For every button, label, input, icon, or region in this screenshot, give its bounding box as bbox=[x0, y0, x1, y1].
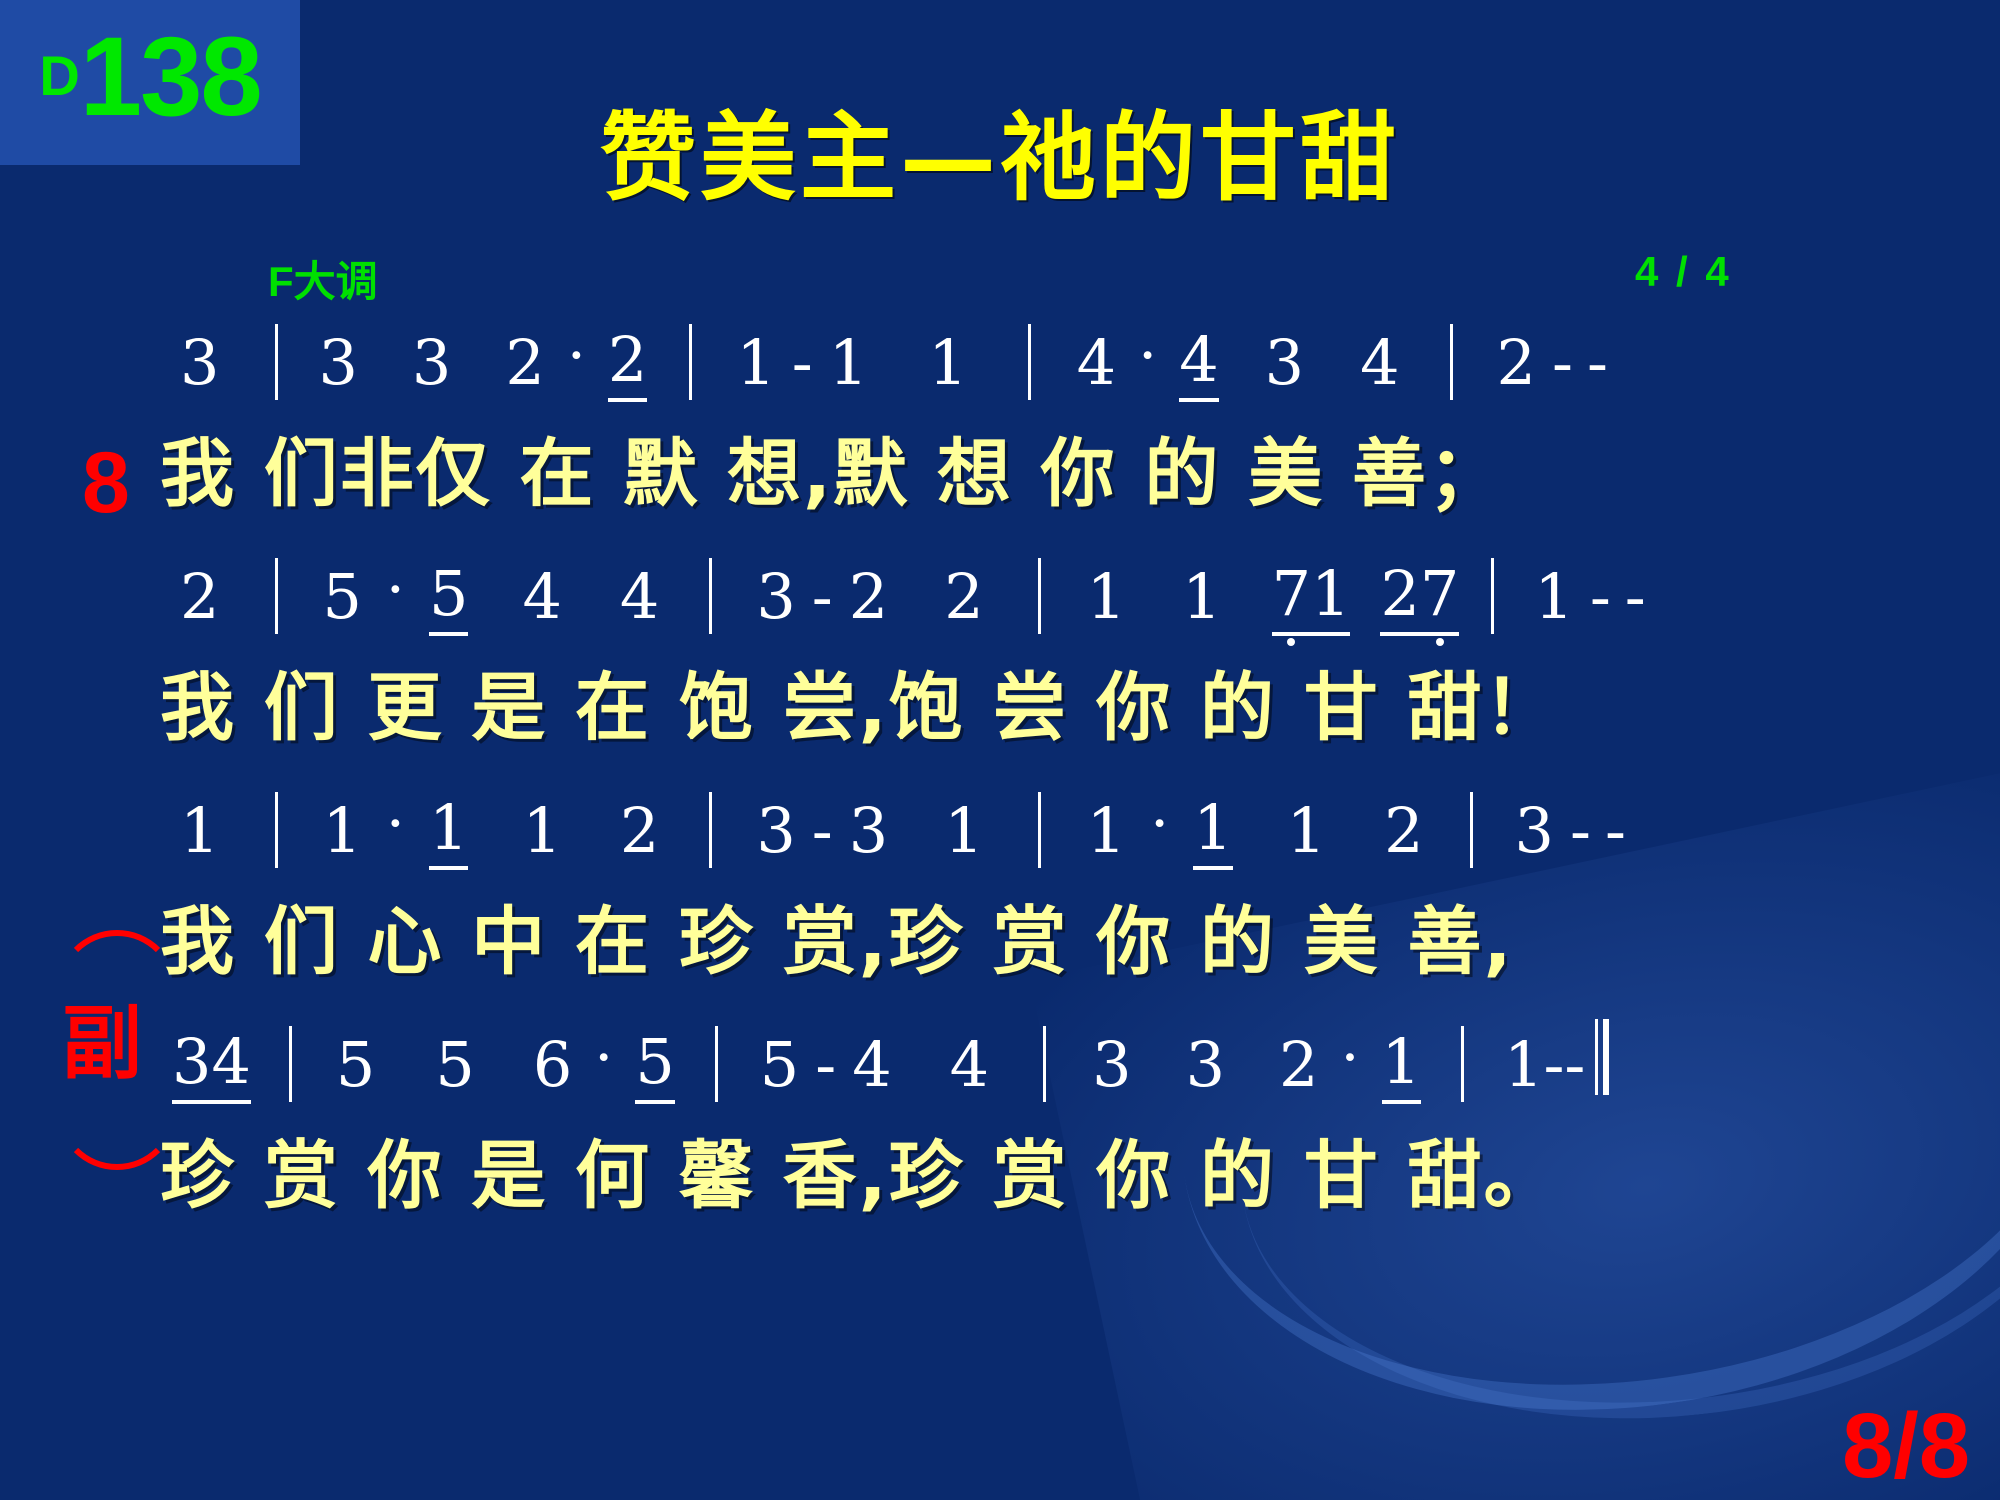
barline bbox=[689, 324, 692, 400]
notation-row: 2 5 · 5 4 4 3 - 2 2 1 1 71 27 1 - - bbox=[0, 549, 2000, 643]
beamed-group: 27 bbox=[1380, 557, 1459, 636]
lyric-row: 我 们 更 是 在 饱 尝,饱 尝 你 的 甘 甜！ bbox=[0, 643, 2000, 759]
lyric-row: 珍 赏 你 是 何 馨 香,珍 赏 你 的 甘 甜。 bbox=[0, 1111, 2000, 1227]
score-system: 3 3 3 2 · 2 1 - 1 1 4 · 4 3 4 2 - - 我 们非… bbox=[0, 315, 2000, 525]
page-number: 8/8 bbox=[1842, 1400, 1970, 1492]
barline bbox=[1491, 558, 1494, 634]
page-title: 赞美主—祂的甘甜 bbox=[0, 80, 2000, 219]
barline bbox=[1043, 1026, 1046, 1102]
lyric-row: 我 们非仅 在 默 想,默 想 你 的 美 善； bbox=[0, 409, 2000, 525]
barline bbox=[275, 324, 278, 400]
key-signature-label: F大调 bbox=[268, 248, 378, 309]
notation-row: 1 1 · 1 1 2 3 - 3 1 1 · 1 1 2 3 - - bbox=[0, 783, 2000, 877]
barline bbox=[1461, 1026, 1464, 1102]
score-system: 1 1 · 1 1 2 3 - 3 1 1 · 1 1 2 3 - - 我 们 … bbox=[0, 783, 2000, 993]
barline bbox=[709, 792, 712, 868]
beamed-group: 71 bbox=[1272, 557, 1351, 636]
barline bbox=[275, 792, 278, 868]
barline bbox=[1028, 324, 1031, 400]
barline bbox=[289, 1026, 292, 1102]
barline bbox=[1470, 792, 1473, 868]
barline bbox=[1038, 792, 1041, 868]
score-system: 34 5 5 6 · 5 5 - 4 4 3 3 2 · 1 1-- 珍 赏 你… bbox=[0, 1017, 2000, 1227]
barline bbox=[275, 558, 278, 634]
final-barline bbox=[1595, 1019, 1614, 1110]
notation-row: 3 3 3 2 · 2 1 - 1 1 4 · 4 3 4 2 - - bbox=[0, 315, 2000, 409]
beamed-group: 34 bbox=[172, 1025, 251, 1104]
score-body: 3 3 3 2 · 2 1 - 1 1 4 · 4 3 4 2 - - 我 们非… bbox=[0, 315, 2000, 1227]
time-signature-label: 4 / 4 bbox=[1635, 248, 1732, 296]
barline bbox=[715, 1026, 718, 1102]
barline bbox=[1038, 558, 1041, 634]
lyric-row: 我 们 心 中 在 珍 赏,珍 赏 你 的 美 善, bbox=[0, 877, 2000, 993]
barline bbox=[709, 558, 712, 634]
notation-row: 34 5 5 6 · 5 5 - 4 4 3 3 2 · 1 1-- bbox=[0, 1017, 2000, 1111]
score-system: 2 5 · 5 4 4 3 - 2 2 1 1 71 27 1 - - 我 们 … bbox=[0, 549, 2000, 759]
barline bbox=[1450, 324, 1453, 400]
